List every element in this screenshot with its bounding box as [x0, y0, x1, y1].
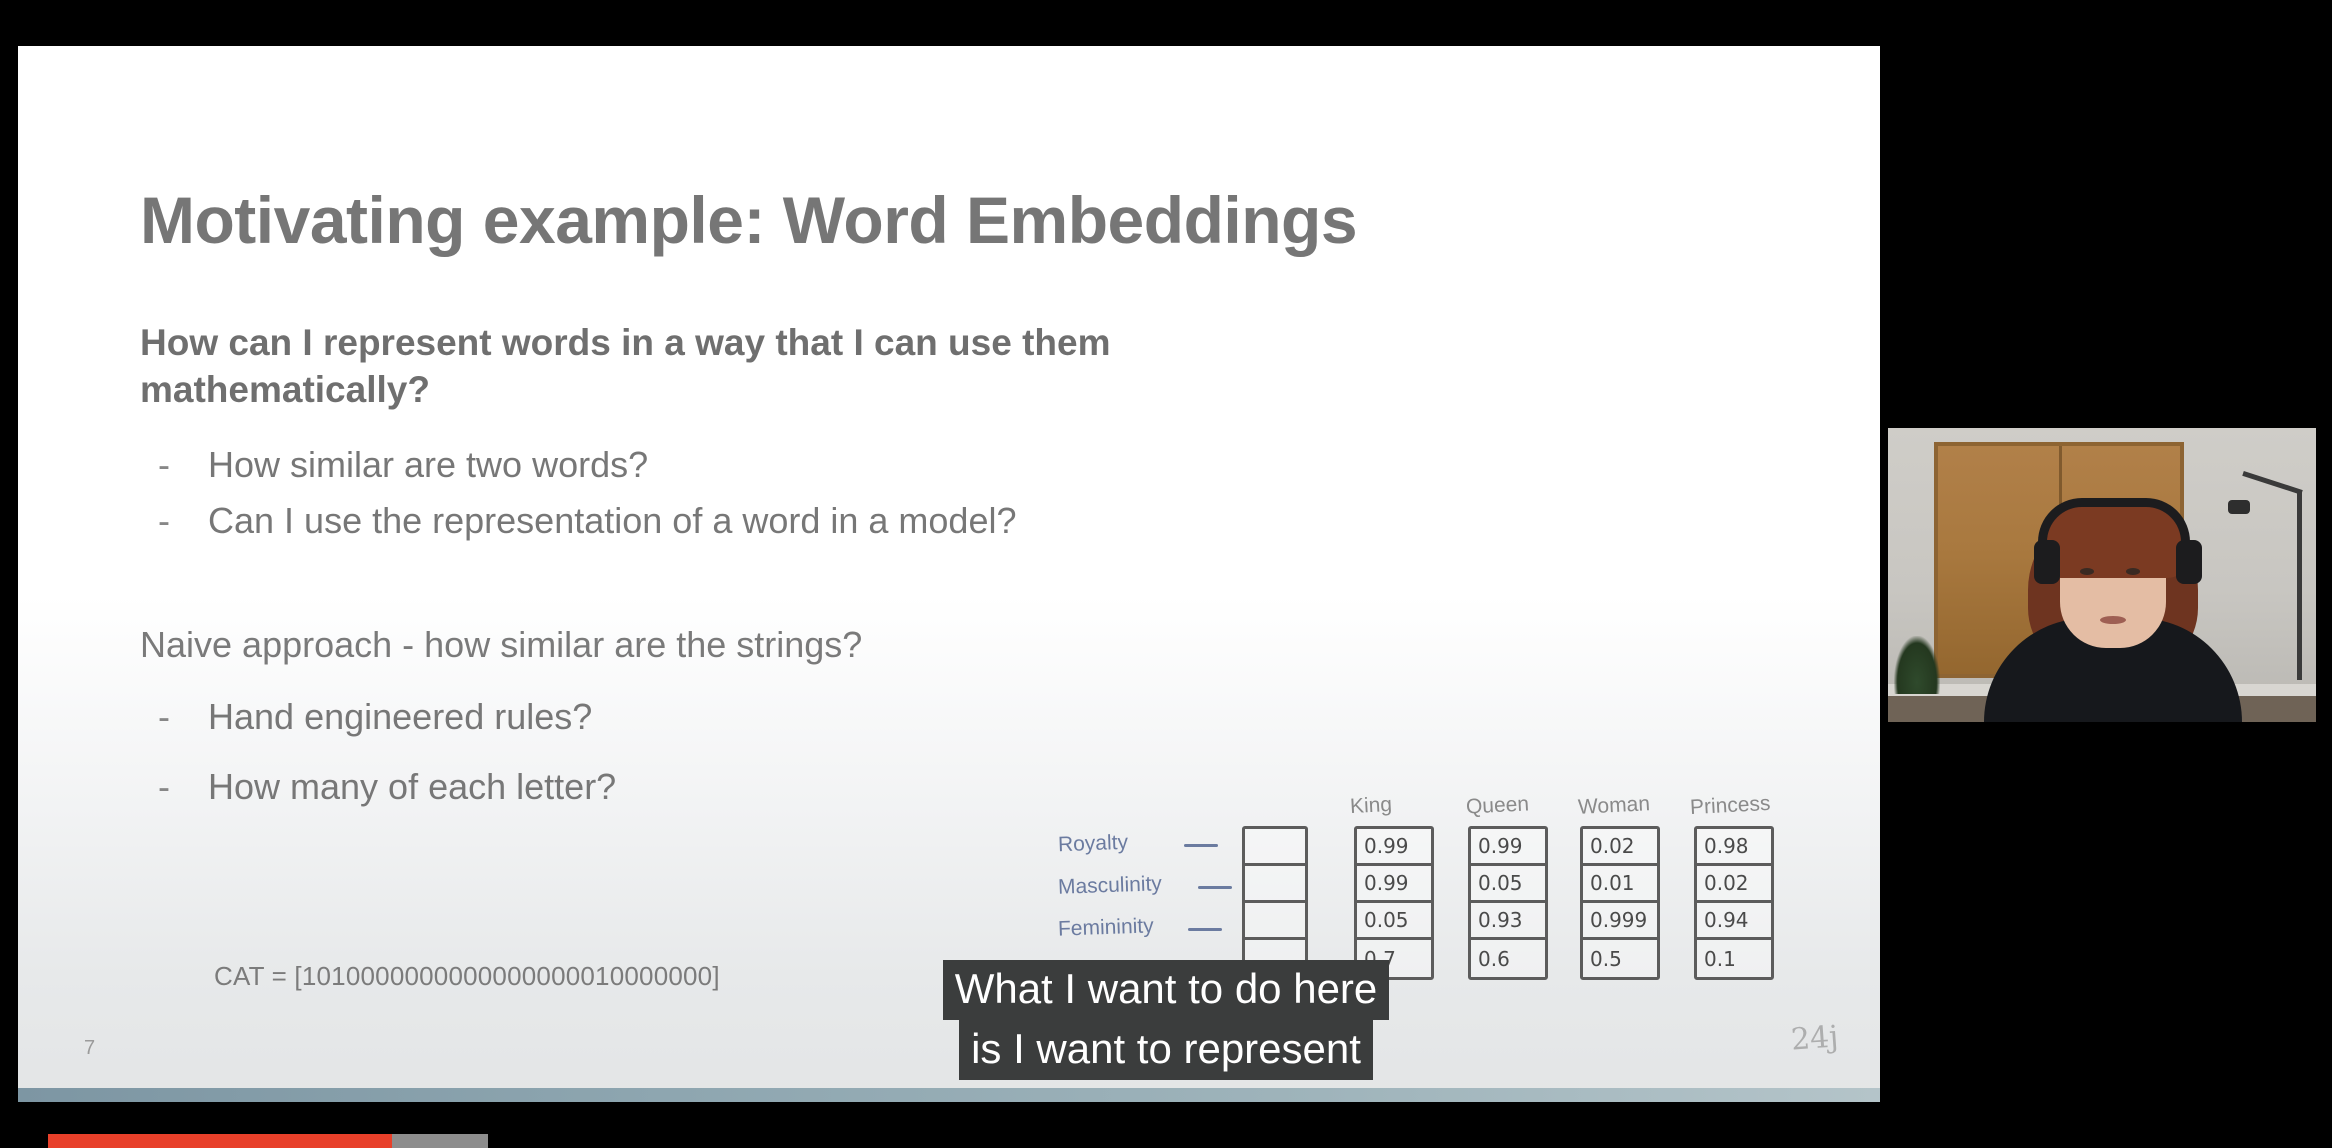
diagram-cell: 0.6: [1471, 940, 1545, 977]
bullet-item-how-similar: - How similar are two words?: [158, 444, 648, 486]
diagram-blank-cell: [1245, 903, 1305, 940]
diagram-cell: 0.05: [1471, 866, 1545, 903]
code-example-cat-vector: CAT = [1010000000000000000010000000]: [214, 961, 720, 992]
diagram-column-header-queen: Queen: [1465, 792, 1529, 819]
diagram-column-header-woman: Woman: [1577, 792, 1650, 820]
bullet-label: Hand engineered rules?: [208, 696, 592, 738]
bullet-marker: -: [158, 766, 208, 808]
slide-page-number: 7: [84, 1037, 95, 1060]
diagram-cell: 0.5: [1583, 940, 1657, 977]
diagram-vector-queen: 0.99 0.05 0.93 0.6: [1468, 826, 1548, 980]
diagram-cell: 0.94: [1697, 903, 1771, 940]
diagram-column-header-princess: Princess: [1689, 792, 1771, 820]
diagram-cell: 0.98: [1697, 829, 1771, 866]
webcam-mic-stand: [2297, 490, 2302, 680]
diagram-cell: 0.999: [1583, 903, 1657, 940]
slide-accent-bar: [18, 1088, 1880, 1102]
section-heading-naive-approach: Naive approach - how similar are the str…: [140, 624, 862, 666]
bullet-item-use-representation: - Can I use the representation of a word…: [158, 500, 1017, 542]
diagram-blank-cell: [1245, 829, 1305, 866]
webcam-person-mouth: [2100, 616, 2126, 624]
diagram-leader-line: [1192, 970, 1226, 973]
webcam-person-eye-left: [2080, 568, 2094, 575]
diagram-cell: 0.02: [1583, 829, 1657, 866]
bullet-marker: -: [158, 696, 208, 738]
diagram-cell: 0.7: [1357, 940, 1431, 977]
headphones-icon: [2038, 498, 2190, 542]
diagram-leader-line: [1184, 844, 1218, 847]
bullet-marker: -: [158, 444, 208, 486]
diagram-cell: 0.99: [1471, 829, 1545, 866]
headphone-earcup-right: [2176, 540, 2202, 584]
slide-subheading: How can I represent words in a way that …: [140, 320, 1320, 414]
diagram-cell: 0.1: [1697, 940, 1771, 977]
diagram-row-label-masculinity: Masculinity: [1058, 872, 1163, 900]
bottom-toolbar[interactable]: [0, 1112, 2332, 1148]
diagram-vector-princess: 0.98 0.02 0.94 0.1: [1694, 826, 1774, 980]
participant-video-tile[interactable]: [1888, 428, 2316, 722]
diagram-cell: 0.05: [1357, 903, 1431, 940]
webcam-plant: [1894, 636, 1940, 694]
shared-screen-slide: Motivating example: Word Embeddings How …: [18, 46, 1880, 1102]
diagram-leader-line: [1198, 886, 1232, 889]
diagram-cell: 0.99: [1357, 829, 1431, 866]
headphone-earcup-left: [2034, 540, 2060, 584]
diagram-row-label-age: Age: [1058, 957, 1096, 982]
toolbar-chip[interactable]: [392, 1134, 488, 1148]
diagram-leader-line: [1188, 928, 1222, 931]
slide-title: Motivating example: Word Embeddings: [140, 182, 1357, 258]
diagram-blank-cell: [1245, 866, 1305, 903]
video-call-stage: Motivating example: Word Embeddings How …: [0, 0, 2332, 1148]
recording-indicator[interactable]: [48, 1134, 392, 1148]
webcam-mic-head: [2228, 500, 2250, 514]
diagram-cell: 0.01: [1583, 866, 1657, 903]
diagram-vector-king: 0.99 0.99 0.05 0.7: [1354, 826, 1434, 980]
diagram-blank-cell: [1245, 940, 1305, 977]
bullet-item-hand-engineered-rules: - Hand engineered rules?: [158, 696, 592, 738]
diagram-cell: 0.02: [1697, 866, 1771, 903]
handwritten-embedding-diagram: Royalty Masculinity Femininity Age King …: [1058, 786, 1858, 1076]
bullet-label: How similar are two words?: [208, 444, 648, 486]
bullet-marker: -: [158, 500, 208, 542]
webcam-person-eye-right: [2126, 568, 2140, 575]
diagram-vector-woman: 0.02 0.01 0.999 0.5: [1580, 826, 1660, 980]
diagram-cell: 0.93: [1471, 903, 1545, 940]
diagram-row-label-femininity: Femininity: [1058, 914, 1154, 941]
diagram-row-label-royalty: Royalty: [1058, 831, 1129, 857]
slide-signature: 24j: [1789, 1019, 1839, 1057]
diagram-blank-vector: [1242, 826, 1308, 980]
bullet-label: Can I use the representation of a word i…: [208, 500, 1017, 542]
bullet-item-how-many-letters: - How many of each letter?: [158, 766, 616, 808]
diagram-column-header-king: King: [1349, 793, 1392, 819]
diagram-cell: 0.99: [1357, 866, 1431, 903]
bullet-label: How many of each letter?: [208, 766, 616, 808]
